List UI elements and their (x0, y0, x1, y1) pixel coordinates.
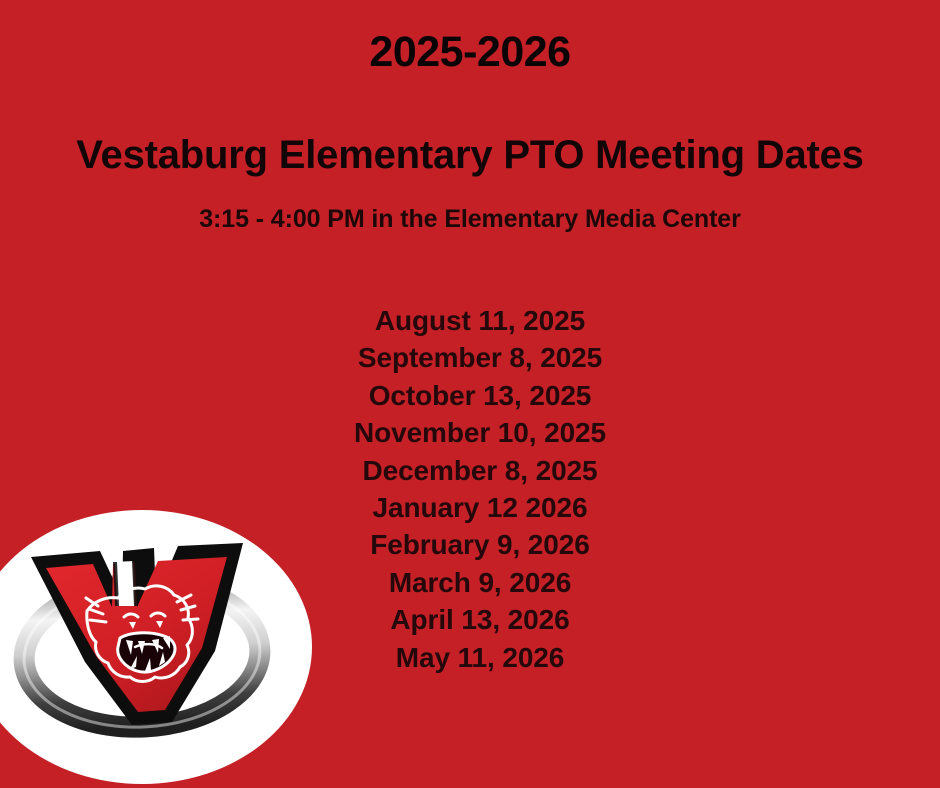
school-logo (0, 510, 312, 788)
year-title: 2025-2026 (0, 30, 940, 75)
list-item: September 8, 2025 (180, 339, 780, 376)
list-item: November 10, 2025 (180, 414, 780, 451)
list-item: December 8, 2025 (180, 452, 780, 489)
page-title: Vestaburg Elementary PTO Meeting Dates (0, 133, 940, 177)
list-item: October 13, 2025 (180, 377, 780, 414)
meeting-time-location: 3:15 - 4:00 PM in the Elementary Media C… (0, 206, 940, 234)
wildcat-v-logo-icon (0, 510, 312, 784)
pto-meeting-dates-flyer: 2025-2026 Vestaburg Elementary PTO Meeti… (0, 0, 940, 788)
list-item: August 11, 2025 (180, 302, 780, 339)
